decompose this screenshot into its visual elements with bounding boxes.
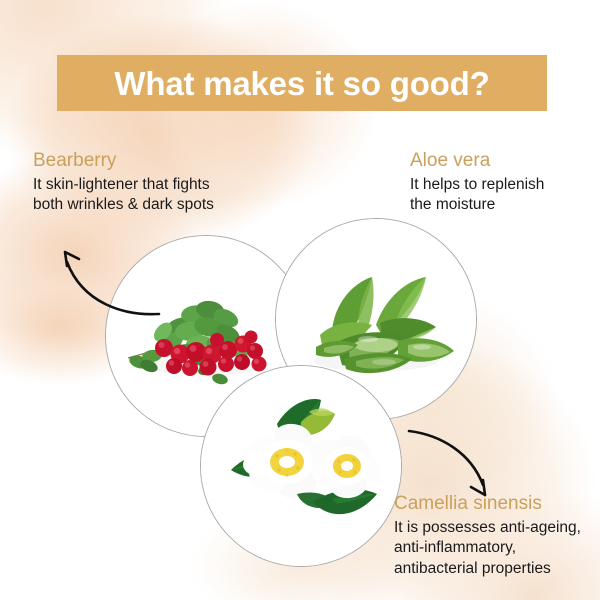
ingredient-name-aloe-vera: Aloe vera [410,150,544,172]
ingredient-description-aloe-vera: It helps to replenish the moisture [410,175,544,216]
ingredient-benefits-poster: What makes it so good? Bearberry It skin… [0,0,600,600]
ingredient-name-camellia-sinensis: Camellia sinensis [394,493,581,515]
ingredient-label-bearberry: Bearberry It skin-lightener that fights … [33,150,214,216]
ingredient-image-camellia-sinensis [200,365,402,567]
title-banner: What makes it so good? [57,55,547,111]
ingredient-description-camellia-sinensis: It is possesses anti-ageing, anti-inflam… [394,518,581,579]
ingredient-label-camellia-sinensis: Camellia sinensis It is possesses anti-a… [394,493,581,579]
ingredient-description-bearberry: It skin-lightener that fights both wrink… [33,175,214,216]
ingredient-label-aloe-vera: Aloe vera It helps to replenish the mois… [410,150,544,216]
page-title: What makes it so good? [114,67,489,100]
ingredient-name-bearberry: Bearberry [33,150,214,172]
camellia-sinensis-flowers-photo [201,366,401,566]
